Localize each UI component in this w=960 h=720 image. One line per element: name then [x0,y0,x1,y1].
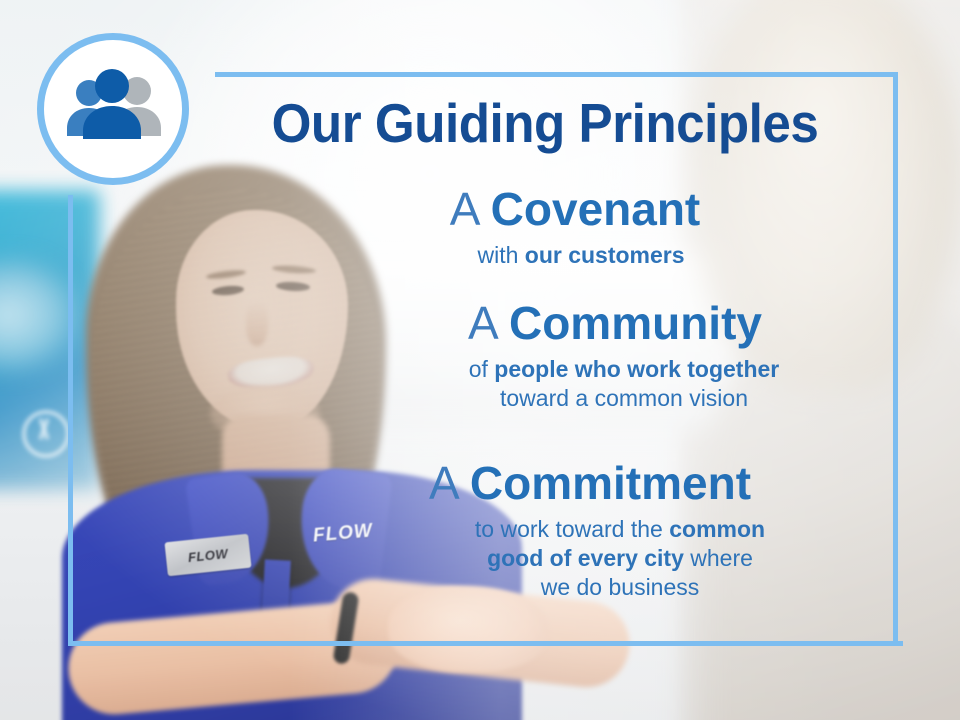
vw-logo-blurred [22,410,70,458]
employee-hands [388,586,548,672]
name-badge-text: FLOW [187,545,229,564]
blurred-car [0,255,80,375]
people-group-badge [37,33,189,185]
people-group-icon [59,69,167,149]
guiding-principles-graphic: FLOW FLOW Our [0,0,960,720]
customer-hair [690,0,960,390]
shirt-logo-text: FLOW [312,520,374,547]
